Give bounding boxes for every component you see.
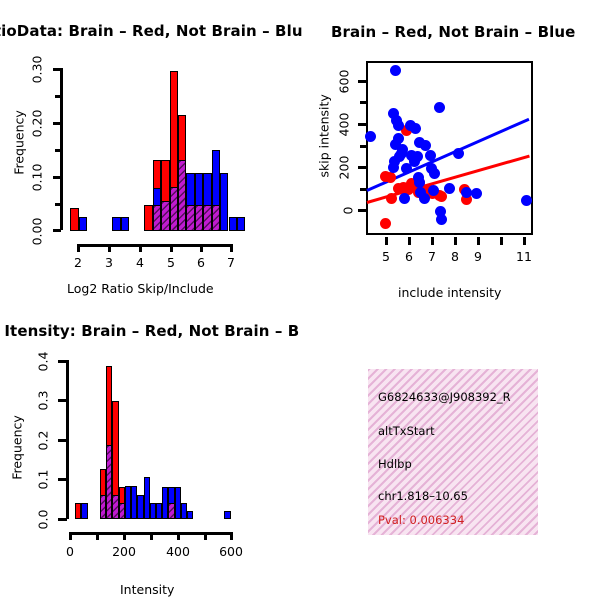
hist-bar	[220, 173, 228, 231]
scatter-point	[388, 162, 399, 173]
hist-bar	[70, 208, 78, 231]
gene-info-panel: G6824633@J908392_R altTxStart Hdlbp chr1…	[368, 369, 538, 535]
scatter-point	[390, 65, 401, 76]
scatter-point	[419, 193, 430, 204]
hist-bar	[81, 503, 87, 519]
info-pvalue: Pval: 0.006334	[378, 513, 540, 527]
scatter-point	[365, 131, 376, 142]
info-event-type: altTxStart	[378, 424, 540, 438]
ratio-histogram-panel: RatioData: Brain – Red, Not Brain – Blu …	[0, 0, 300, 300]
scatter-point	[436, 214, 447, 225]
scatter-point	[380, 218, 391, 229]
hist-bar	[237, 217, 245, 231]
hist-bar	[119, 503, 125, 519]
info-probe-id: G6824633@J908392_R	[378, 390, 540, 404]
hist-bar	[79, 217, 87, 231]
hist-bar	[186, 205, 194, 231]
scatter-point	[385, 172, 396, 183]
ratio-histogram-bars	[0, 0, 300, 300]
scatter-point	[386, 193, 397, 204]
scatter-point	[409, 156, 420, 167]
hist-bar	[178, 160, 186, 231]
scatter-point	[434, 102, 445, 113]
hist-bar	[229, 217, 237, 231]
intensity-histogram-bars	[0, 300, 300, 600]
hist-bar	[112, 217, 120, 231]
hist-bar	[212, 205, 220, 231]
scatter-point	[453, 148, 464, 159]
scatter-point	[393, 133, 404, 144]
hist-bar	[203, 205, 211, 231]
hist-bar	[170, 187, 178, 231]
info-locus: chr1.818–10.65	[378, 489, 540, 503]
hist-bar	[161, 201, 169, 231]
scatter-point	[425, 150, 436, 161]
hist-bar	[121, 217, 129, 231]
scatter-panel: Brain – Red, Not Brain – Blue skip inten…	[300, 0, 600, 300]
scatter-point	[399, 193, 410, 204]
scatter-point	[471, 188, 482, 199]
hist-bar	[168, 503, 174, 519]
scatter-point	[410, 123, 421, 134]
scatter-point	[444, 183, 455, 194]
scatter-point	[521, 195, 532, 206]
scatter-point	[393, 120, 404, 131]
hist-bar	[153, 205, 161, 231]
hist-bar	[224, 511, 230, 519]
hist-bar	[144, 205, 152, 231]
hist-bar	[195, 205, 203, 231]
info-gene-name: Hdlbp	[378, 457, 540, 471]
scatter-point	[429, 168, 440, 179]
hist-bar	[187, 511, 193, 519]
scatter-points-layer	[300, 0, 600, 300]
intensity-histogram-panel: ne Itensity: Brain – Red, Not Brain – B …	[0, 300, 300, 600]
